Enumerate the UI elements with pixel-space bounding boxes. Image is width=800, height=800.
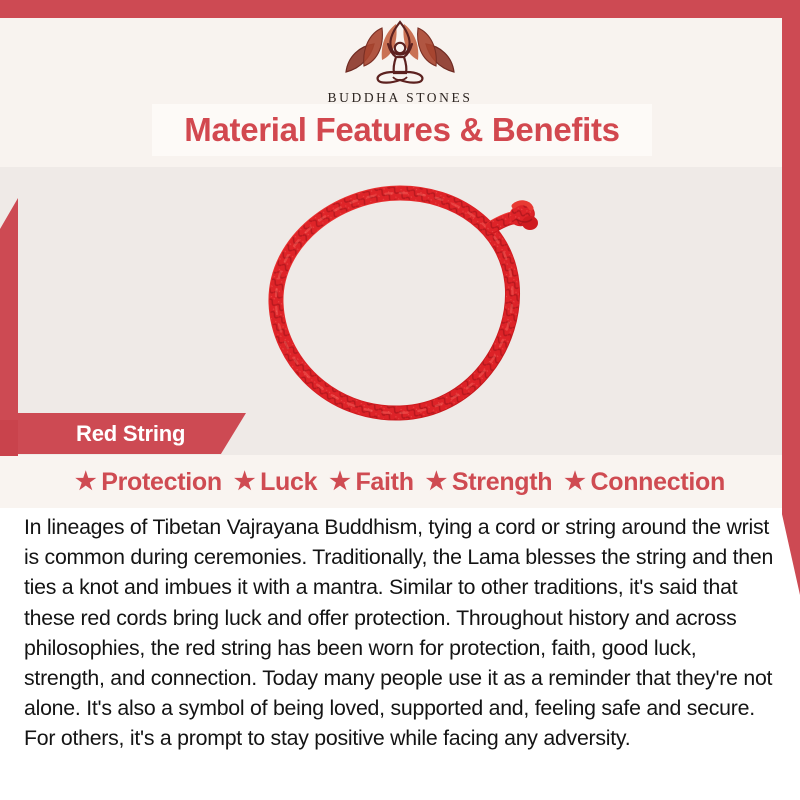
feature-item-protection: ★ Protection xyxy=(70,468,227,497)
lotus-meditation-icon xyxy=(338,20,462,86)
title-banner: Material Features & Benefits xyxy=(152,104,652,156)
feature-label: Connection xyxy=(590,468,725,497)
description-paragraph: In lineages of Tibetan Vajrayana Buddhis… xyxy=(24,512,776,754)
page-title: Material Features & Benefits xyxy=(184,111,619,149)
star-icon: ★ xyxy=(564,470,585,494)
product-image-area xyxy=(0,167,800,455)
product-name-ribbon: Red String xyxy=(18,413,246,454)
red-string-bracelet-image xyxy=(224,175,574,455)
star-icon: ★ xyxy=(426,470,447,494)
feature-label: Protection xyxy=(101,468,222,497)
star-icon: ★ xyxy=(329,470,350,494)
feature-item-luck: ★ Luck xyxy=(229,468,322,497)
star-icon: ★ xyxy=(75,470,96,494)
feature-label: Faith xyxy=(355,468,413,497)
feature-label: Strength xyxy=(452,468,552,497)
brand-logo: BUDDHA STONES xyxy=(0,20,800,106)
features-list: ★ Protection ★ Luck ★ Faith ★ Strength ★… xyxy=(0,461,800,503)
feature-item-strength: ★ Strength xyxy=(421,468,558,497)
infographic-page: BUDDHA STONES Material Features & Benefi… xyxy=(0,0,800,800)
feature-item-faith: ★ Faith xyxy=(324,468,418,497)
feature-item-connection: ★ Connection xyxy=(559,468,730,497)
star-icon: ★ xyxy=(234,470,255,494)
product-name-label: Red String xyxy=(76,421,185,447)
top-accent-bar xyxy=(0,0,800,18)
feature-label: Luck xyxy=(260,468,317,497)
